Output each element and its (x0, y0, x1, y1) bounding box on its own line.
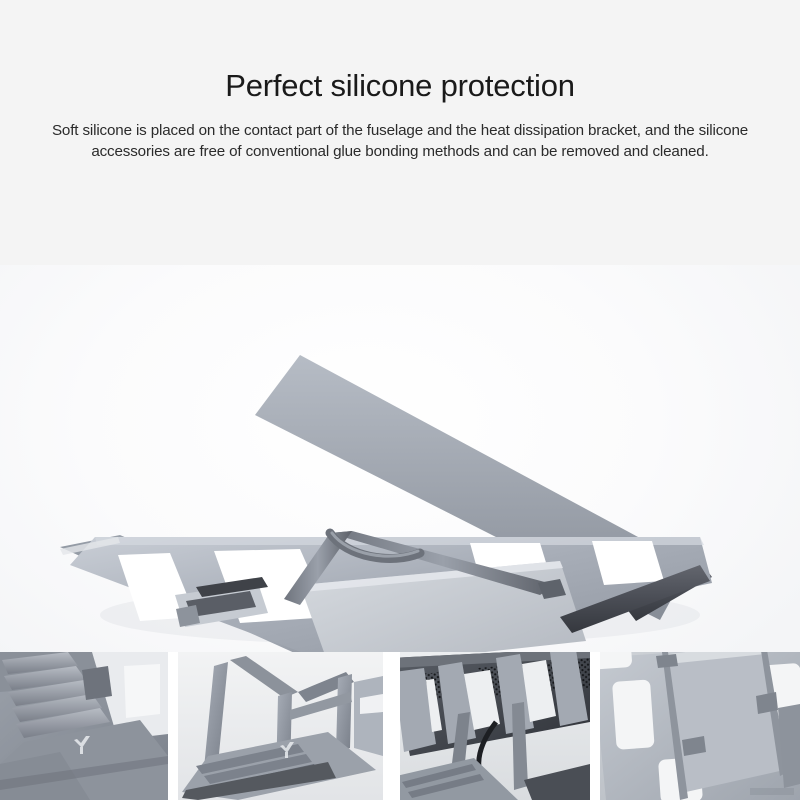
page-subtitle: Soft silicone is placed on the contact p… (34, 120, 766, 162)
cutout-window (592, 541, 664, 585)
hinge-clip (656, 654, 678, 668)
thumbnail-silicone-ribbed-pad[interactable] (0, 652, 168, 800)
header-section: Perfect silicone protection Soft silicon… (0, 0, 800, 265)
thumbnail-strip (0, 652, 800, 800)
watermark-bar (750, 788, 794, 795)
page-title: Perfect silicone protection (0, 68, 800, 104)
hero-product-image (0, 265, 800, 652)
thumbnail-laptop-mounted-underside[interactable] (400, 652, 590, 800)
thumbnail-stand-folded-angle[interactable] (178, 652, 383, 800)
product-detail-page: Perfect silicone protection Soft silicon… (0, 0, 800, 800)
laptop-stand-illustration (0, 265, 800, 652)
thumbnail-stand-flat-cutouts[interactable] (600, 652, 800, 800)
